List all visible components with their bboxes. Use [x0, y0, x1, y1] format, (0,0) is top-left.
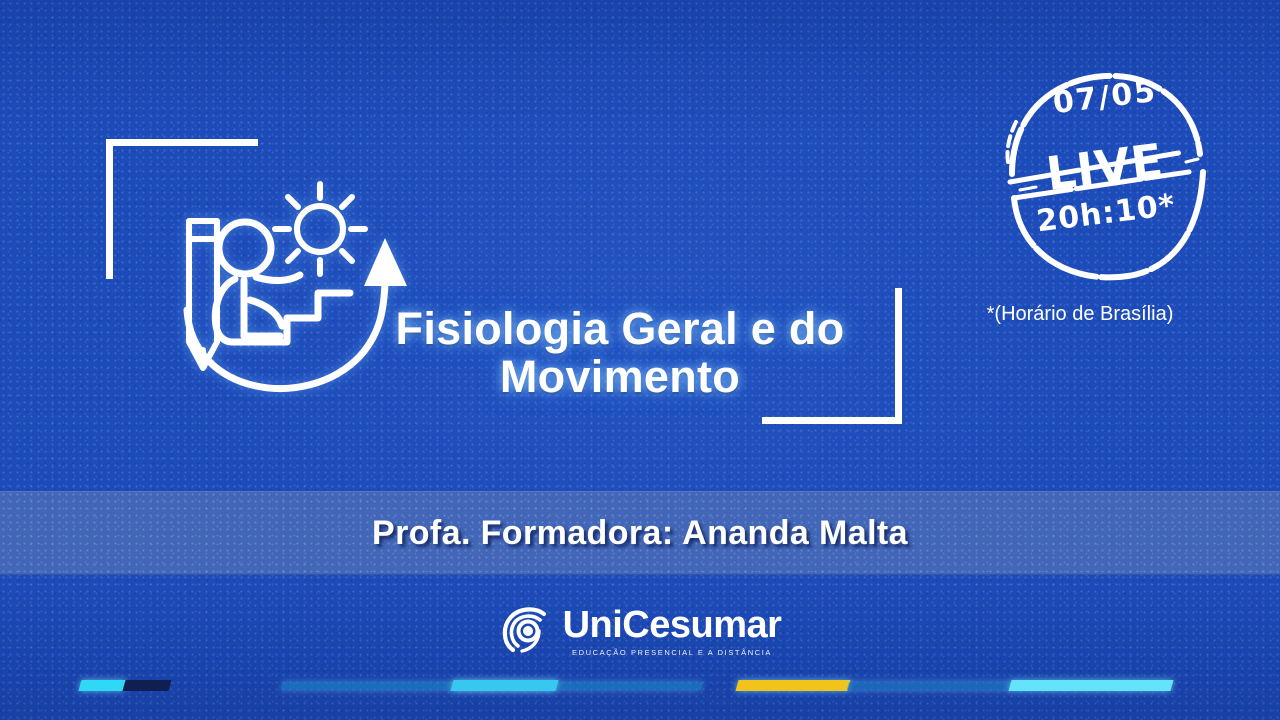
title-line-2: Movimento — [330, 353, 910, 401]
page-title: Fisiologia Geral e do Movimento — [330, 305, 910, 400]
bar-cyan-right — [1008, 680, 1173, 691]
presenter-band: Profa. Formadora: Ananda Malta — [0, 491, 1280, 575]
bar-cyan-left — [78, 680, 126, 691]
bar-navy — [122, 680, 171, 691]
bar-cyan-mid — [847, 682, 1014, 690]
presenter-name: Profa. Formadora: Ananda Malta — [372, 514, 908, 553]
bar-teal-accent — [450, 680, 558, 691]
bar-yellow — [735, 680, 850, 691]
title-line-1: Fisiologia Geral e do — [330, 305, 910, 353]
live-announcement-slide: Fisiologia Geral e do Movimento 07/05 LI… — [0, 0, 1280, 720]
brand-name: UniCesumar — [563, 606, 782, 644]
brand-logo: UniCesumar EDUCAÇÃO PRESENCIAL E A DISTÂ… — [0, 605, 1280, 657]
timezone-note: *(Horário de Brasília) — [930, 303, 1230, 326]
brand-tagline: EDUCAÇÃO PRESENCIAL E A DISTÂNCIA — [563, 648, 782, 657]
unicesumar-logo-icon — [499, 605, 551, 657]
bottom-decorative-bars — [0, 680, 1280, 698]
